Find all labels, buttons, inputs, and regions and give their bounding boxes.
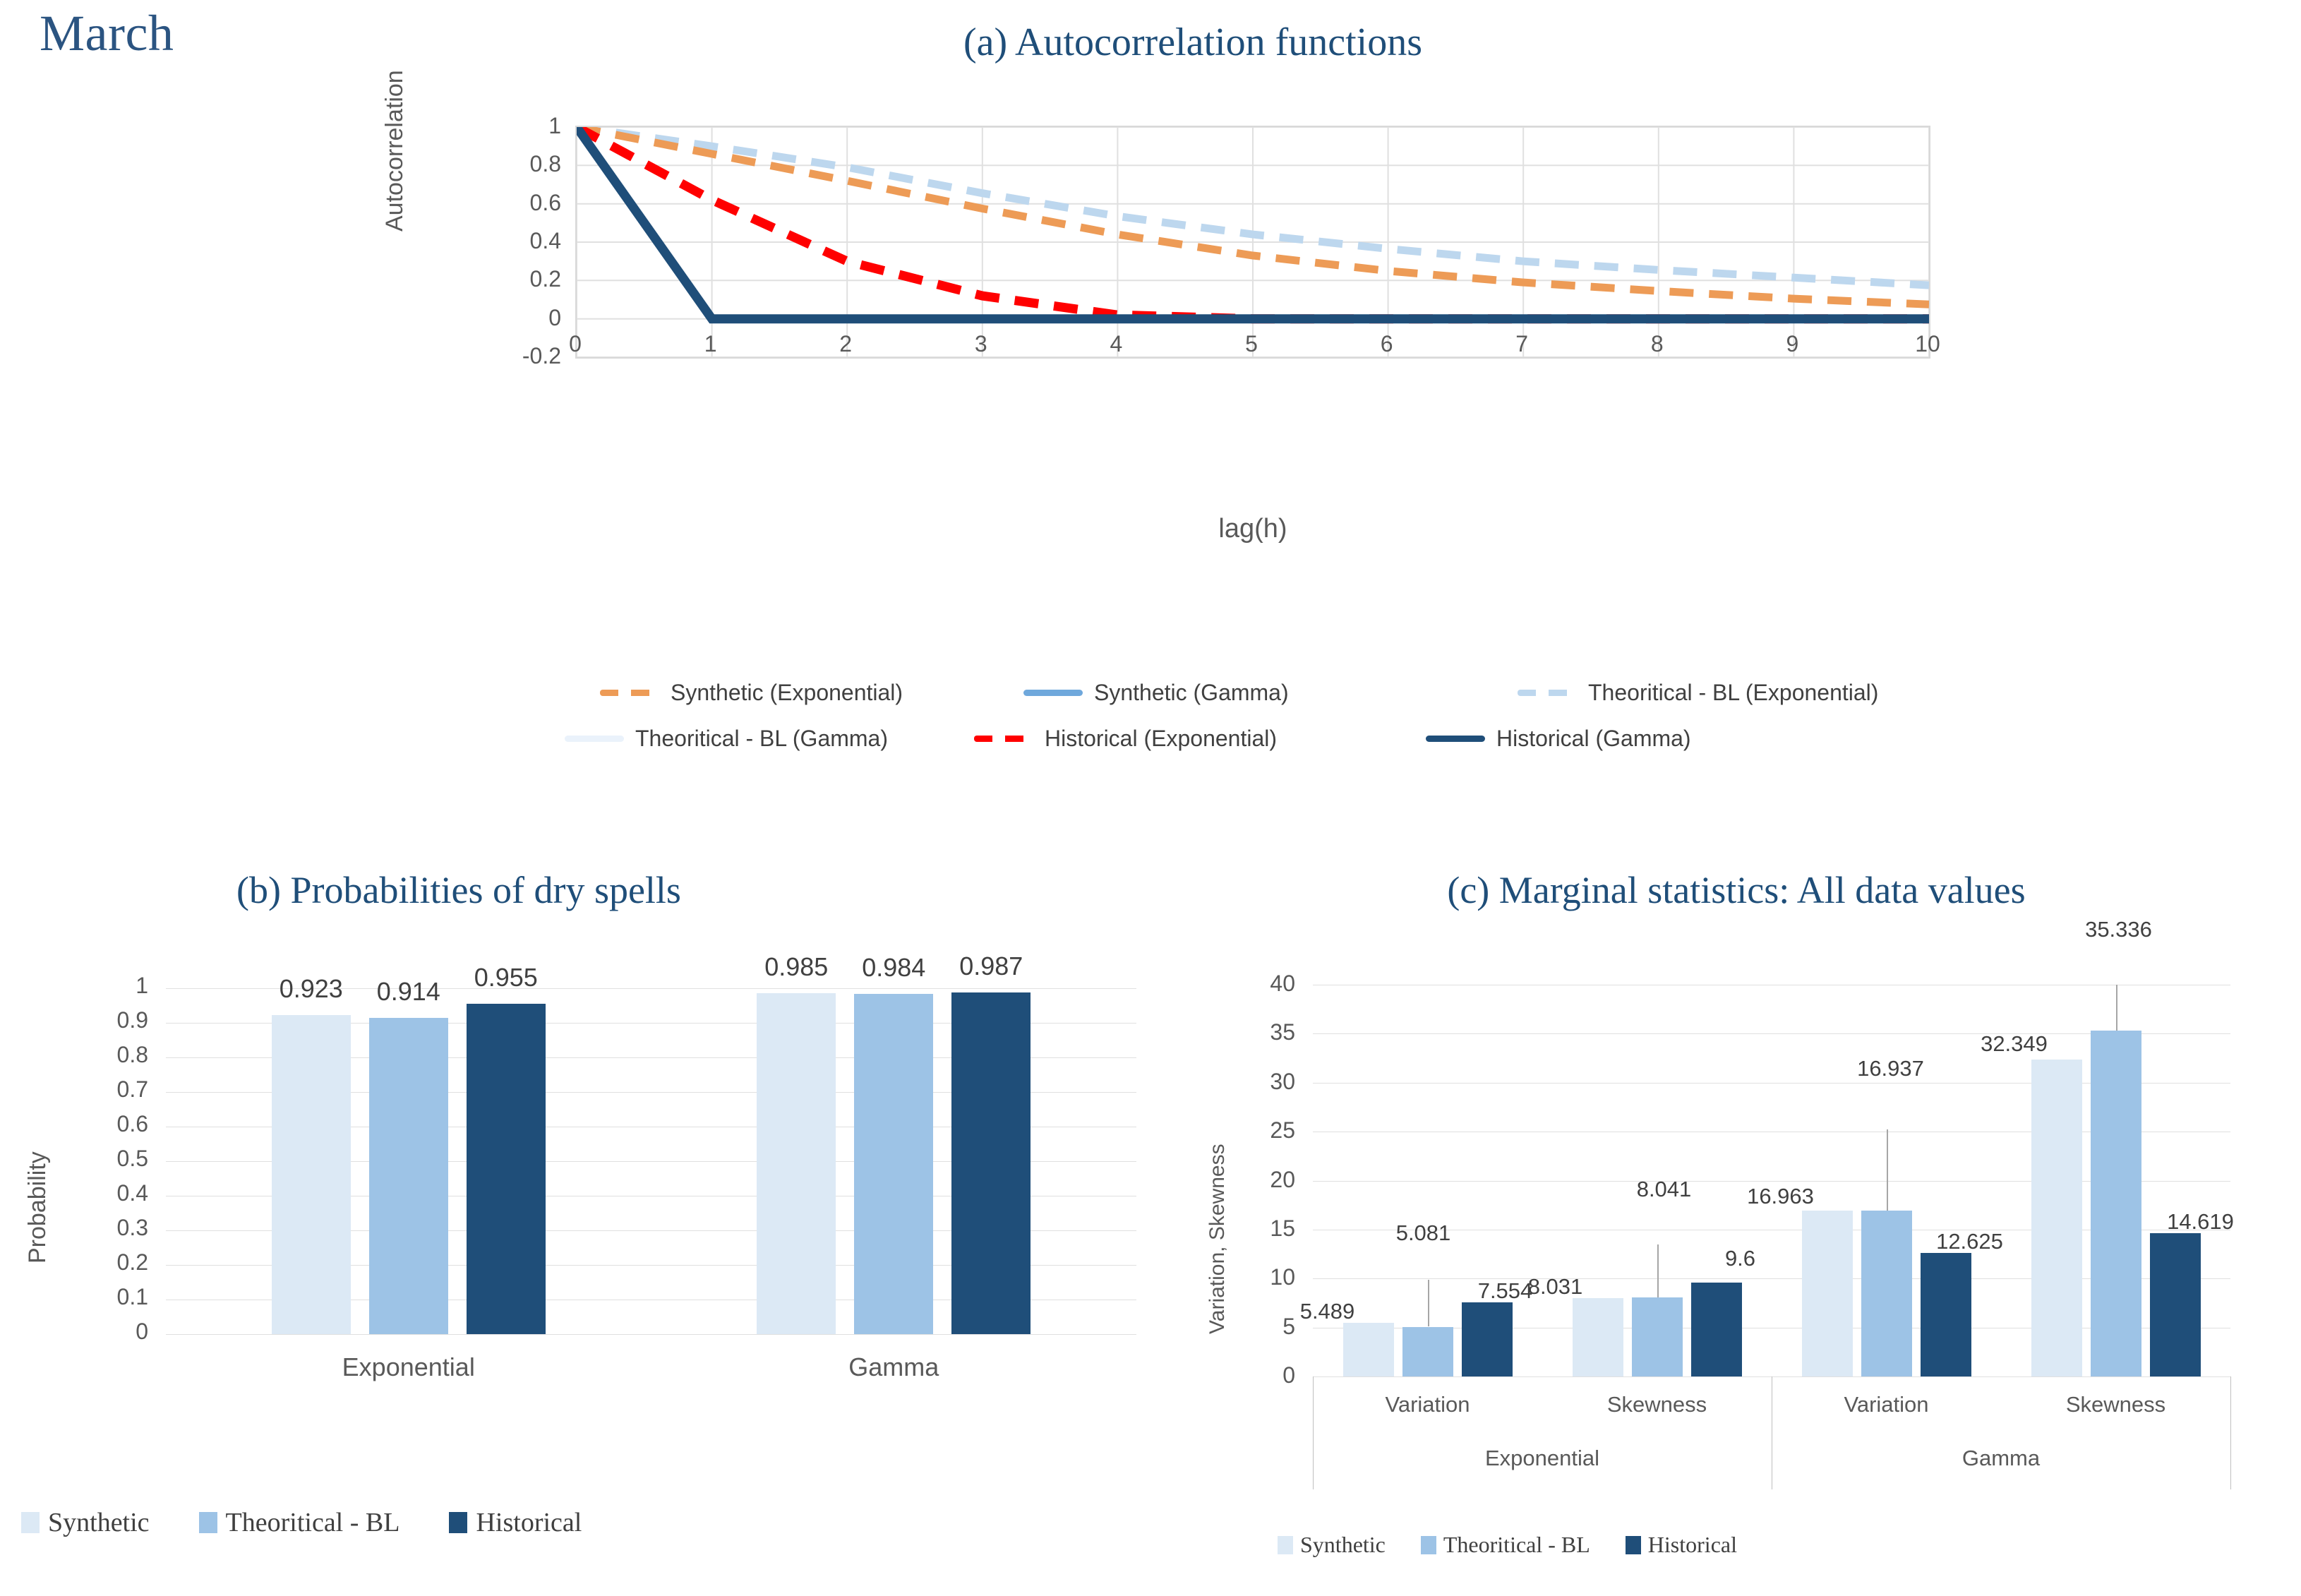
panel-a-y-tick: 0 [469,305,561,331]
panel-a-x-axis-label: lag(h) [575,514,1930,544]
legend-swatch-icon [1626,1536,1641,1554]
panel-c-group-label: Gamma [1846,1446,2156,1471]
error-bar [2116,985,2117,1031]
legend-swatch-icon [565,736,624,742]
panel-b-category-label: Exponential [253,1352,564,1382]
bar[interactable] [1402,1327,1453,1376]
bar[interactable] [1802,1211,1853,1376]
error-bar [1657,1244,1659,1298]
legend-label: Theoritical - BL [1443,1532,1590,1558]
panel-c-group-separator [1313,1376,1314,1489]
panel-a-legend: Synthetic (Exponential)Synthetic (Gamma)… [480,680,1962,772]
bar-value-label: 12.625 [1902,1229,2038,1254]
bar[interactable] [2031,1060,2082,1376]
legend-label: Historical [476,1507,582,1538]
legend-label: Theoritical - BL [226,1507,400,1538]
bar[interactable] [467,1004,546,1334]
panel-a-legend-row: Theoritical - BL (Gamma)Historical (Expo… [480,726,1962,772]
legend-label: Synthetic [48,1507,150,1538]
bar[interactable] [951,992,1031,1334]
panel-c-y-tick: 40 [1207,971,1295,997]
legend-item-5[interactable]: Historical (Gamma) [1426,726,1691,752]
panel-c-y-tick: 15 [1207,1216,1295,1242]
bar[interactable] [1343,1323,1394,1376]
panel-a-y-tick: 0.6 [469,190,561,216]
panel-c-y-tick: 20 [1207,1167,1295,1193]
panel-marginal-statistics: (c) Marginal statistics: All data values… [1143,868,2301,1595]
panel-c-legend-item-1[interactable]: Theoritical - BL [1421,1532,1590,1558]
panel-b-y-tick: 0.6 [42,1111,148,1137]
panel-c-legend-item-0[interactable]: Synthetic [1278,1532,1386,1558]
panel-a-y-tick: 0.4 [469,228,561,254]
legend-swatch-icon [600,690,659,696]
panel-a-y-axis-label: Autocorrelation [381,70,409,232]
bar[interactable] [1921,1253,1971,1376]
panel-a-y-tick: 1 [469,113,561,139]
panel-a-x-tick: 4 [1074,331,1158,357]
panel-c-group-separator [1772,1376,1772,1489]
legend-item-2[interactable]: Theoritical - BL (Exponential) [1518,680,1878,706]
bar[interactable] [1691,1283,1742,1376]
legend-swatch-icon [21,1512,40,1533]
panel-b-y-tick: 0.8 [42,1042,148,1068]
legend-item-1[interactable]: Synthetic (Gamma) [1023,680,1289,706]
legend-swatch-icon [1421,1536,1436,1554]
panel-a-x-tick: 2 [803,331,888,357]
bar[interactable] [369,1018,448,1334]
legend-swatch-icon [1023,690,1083,696]
bar-value-label: 5.489 [1260,1299,1395,1324]
panel-b-legend-item-0[interactable]: Synthetic [21,1507,150,1538]
panel-b-y-tick: 1 [42,973,148,999]
panel-c-y-tick: 10 [1207,1264,1295,1290]
panel-b-y-tick: 0.2 [42,1249,148,1276]
bar-value-label: 0.955 [438,963,574,992]
bar-value-label: 16.963 [1713,1184,1849,1209]
bar-value-label: 16.937 [1823,1056,1959,1081]
panel-c-y-tick: 25 [1207,1117,1295,1144]
legend-item-4[interactable]: Historical (Exponential) [974,726,1277,752]
page-title: March [40,4,174,63]
panel-b-title: (b) Probabilities of dry spells [42,868,875,912]
panel-a-x-tick: 6 [1345,331,1429,357]
legend-label: Synthetic [1300,1532,1386,1558]
panel-a-title: (a) Autocorrelation functions [395,20,1990,65]
error-bar [1428,1280,1429,1327]
bar[interactable] [854,994,933,1334]
panel-c-category-label: Skewness [1996,1392,2236,1417]
panel-dry-spells: (b) Probabilities of dry spells Probabil… [0,868,1143,1595]
legend-item-3[interactable]: Theoritical - BL (Gamma) [565,726,888,752]
legend-swatch-icon [974,736,1033,742]
bar-value-label: 32.349 [1947,1031,2082,1057]
gridline [1313,985,2230,985]
legend-swatch-icon [1278,1536,1293,1554]
panel-c-title: (c) Marginal statistics: All data values [1313,868,2160,912]
panel-a-y-tick: 0.2 [469,266,561,292]
panel-c-group-label: Exponential [1387,1446,1698,1471]
bar-value-label: 35.336 [2051,917,2187,942]
panel-c-category-label: Variation [1308,1392,1548,1417]
legend-label: Theoritical - BL (Gamma) [635,726,888,752]
panel-a-legend-row: Synthetic (Exponential)Synthetic (Gamma)… [480,680,1962,726]
bar-value-label: 9.6 [1673,1246,1808,1271]
panel-autocorrelation: (a) Autocorrelation functions Autocorrel… [395,20,1990,853]
panel-b-plot-area: 0.9230.9140.9550.9850.9840.987 [166,988,1136,1334]
panel-a-x-tick: 0 [533,331,618,357]
panel-c-plot-area: 5.4895.0817.5548.0318.0419.616.96316.937… [1313,985,2230,1376]
panel-a-x-tick: 9 [1750,331,1834,357]
panel-b-y-tick: 0.5 [42,1146,148,1172]
bar-value-label: 14.619 [2133,1209,2269,1235]
bar[interactable] [757,993,836,1334]
legend-label: Theoritical - BL (Exponential) [1588,680,1878,706]
panel-b-y-tick: 0 [42,1319,148,1345]
legend-label: Historical (Exponential) [1045,726,1277,752]
bar[interactable] [272,1015,351,1334]
legend-label: Historical (Gamma) [1496,726,1691,752]
panel-a-x-tick: 8 [1615,331,1700,357]
panel-c-y-tick: 35 [1207,1019,1295,1045]
panel-a-y-tick: 0.8 [469,151,561,177]
legend-swatch-icon [449,1512,467,1533]
panel-c-legend-item-2[interactable]: Historical [1626,1532,1737,1558]
panel-b-y-tick: 0.3 [42,1215,148,1241]
panel-b-legend-item-1[interactable]: Theoritical - BL [199,1507,400,1538]
legend-swatch-icon [199,1512,217,1533]
bar[interactable] [1573,1298,1623,1376]
panel-b-legend-item-2[interactable]: Historical [449,1507,582,1538]
bar-value-label: 5.081 [1356,1220,1491,1246]
panel-a-lines [577,127,1929,357]
legend-item-0[interactable]: Synthetic (Exponential) [600,680,903,706]
bar[interactable] [2091,1031,2141,1376]
panel-a-x-tick: 3 [939,331,1023,357]
legend-label: Historical [1648,1532,1737,1558]
panel-b-y-tick: 0.4 [42,1180,148,1206]
panel-b-legend: SyntheticTheoritical - BLHistorical [21,1507,631,1538]
panel-b-category-label: Gamma [738,1352,1049,1382]
panel-c-group-separator [2230,1376,2231,1489]
legend-swatch-icon [1426,736,1485,742]
panel-a-x-tick: 7 [1479,331,1564,357]
panel-b-y-tick: 0.9 [42,1007,148,1033]
bar[interactable] [2150,1233,2201,1376]
panel-c-y-tick: 0 [1207,1362,1295,1388]
bar-value-label: 0.987 [923,952,1059,981]
panel-c-category-label: Variation [1767,1392,2007,1417]
error-bar [1887,1129,1888,1211]
panel-b-y-tick: 0.7 [42,1076,148,1103]
panel-a-x-tick: 1 [668,331,753,357]
legend-label: Synthetic (Exponential) [671,680,903,706]
bar-value-label: 8.031 [1488,1274,1623,1300]
panel-a-x-tick: 5 [1209,331,1294,357]
bar[interactable] [1462,1302,1513,1376]
panel-c-legend: SyntheticTheoritical - BLHistorical [1278,1532,1772,1558]
gridline [166,1334,1136,1335]
legend-label: Synthetic (Gamma) [1094,680,1289,706]
panel-c-y-tick: 30 [1207,1069,1295,1095]
panel-a-x-tick: 10 [1885,331,1970,357]
bar[interactable] [1632,1297,1683,1376]
panel-b-y-tick: 0.1 [42,1284,148,1310]
panel-a-plot-area [575,126,1930,359]
bar-value-label: 8.041 [1597,1177,1732,1202]
legend-swatch-icon [1518,690,1577,696]
panel-c-category-label: Skewness [1537,1392,1777,1417]
